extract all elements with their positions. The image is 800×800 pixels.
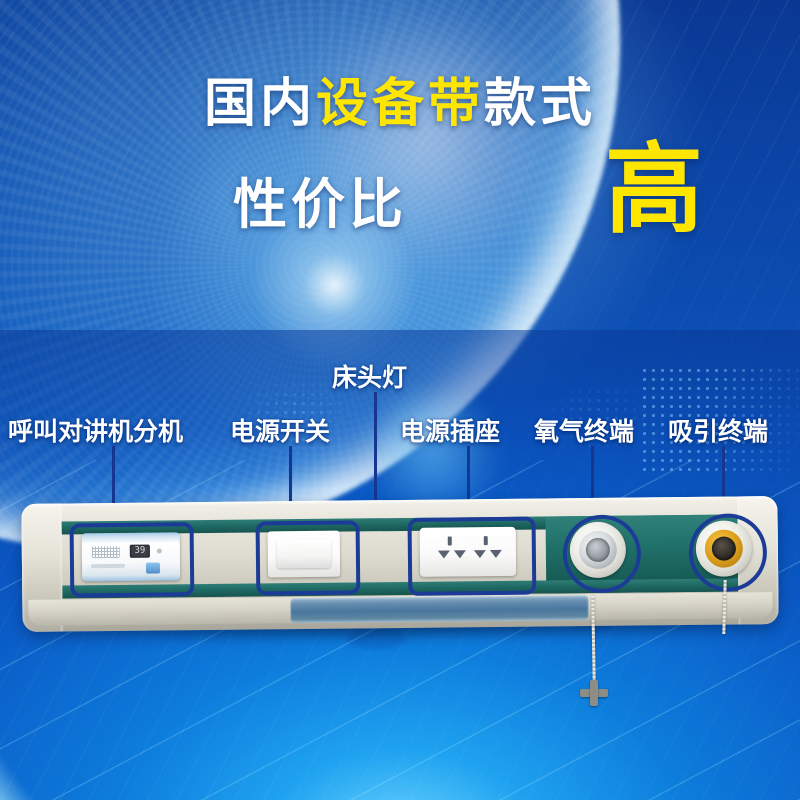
highlight-box-suction-terminal xyxy=(688,513,767,592)
callout-label-bedside-lamp: 床头灯 xyxy=(332,358,407,394)
bedside-lamp-diffuser xyxy=(290,595,588,623)
callout-label-power-socket: 电源插座 xyxy=(400,412,500,448)
headline-line-2-row: 性价比 高 xyxy=(0,156,800,266)
callout-label-suction-terminal: 吸引终端 xyxy=(668,412,768,448)
headline-line1-part1: 国内 xyxy=(204,75,316,133)
callout-label-oxygen-terminal: 氧气终端 xyxy=(534,412,634,448)
highlight-box-intercom xyxy=(70,522,195,597)
medical-equipment-panel: 39 xyxy=(21,496,778,632)
headline-line-2: 性价比 xyxy=(233,160,407,239)
highlight-box-power-switch xyxy=(256,520,361,595)
pull-cord-handle[interactable] xyxy=(580,680,608,706)
headline-line-1: 国内设备带款式 xyxy=(0,78,800,130)
headline-line1-highlight: 设备带 xyxy=(316,75,484,133)
headline-line1-part2: 款式 xyxy=(484,75,596,133)
highlight-box-power-socket xyxy=(408,517,537,596)
promo-banner: 国内设备带款式 性价比 高 呼叫对讲机分机 电源开关 床头灯 电源插座 氧气终端… xyxy=(0,0,800,800)
headline-line2-highlight: 高 xyxy=(605,140,703,238)
callout-label-intercom: 呼叫对讲机分机 xyxy=(8,412,183,448)
callout-label-power-switch: 电源开关 xyxy=(230,412,330,448)
headline-block: 国内设备带款式 性价比 高 xyxy=(0,78,800,266)
highlight-box-oxygen-terminal xyxy=(562,514,641,593)
